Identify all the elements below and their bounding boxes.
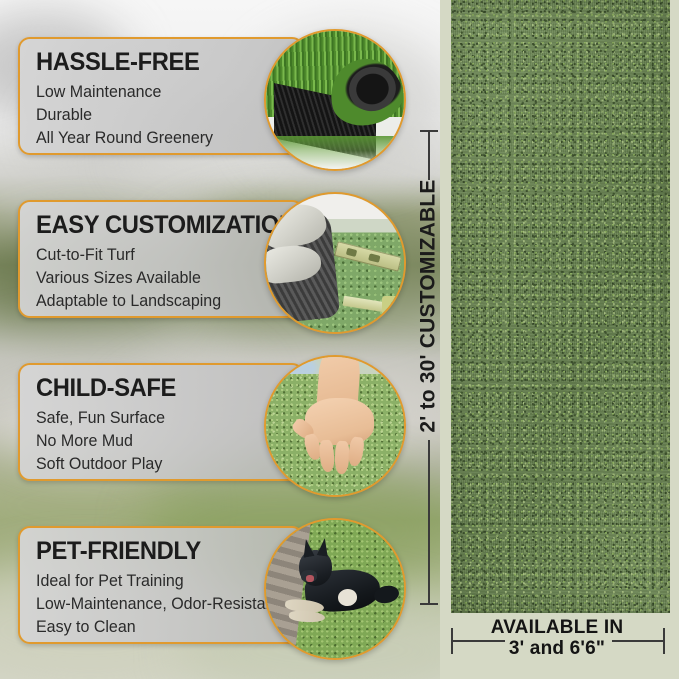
available-sizes-text: 3' and 6'6" <box>449 638 665 659</box>
feature-card-bullet: Various Sizes Available <box>36 267 280 290</box>
available-in-text: AVAILABLE IN <box>449 618 665 638</box>
feature-card-title: EASY CUSTOMIZATION <box>36 212 275 239</box>
feature-card-bullet: Soft Outdoor Play <box>36 453 280 476</box>
feature-card-bullet: All Year Round Greenery <box>36 127 280 150</box>
feature-card-title: CHILD-SAFE <box>36 375 275 402</box>
feature-card-pet-friendly: PET-FRIENDLY Ideal for Pet Training Low-… <box>18 526 304 644</box>
feature-card-bullet: Low-Maintenance, Odor-Resistant <box>36 593 280 616</box>
feature-card-bullet: Ideal for Pet Training <box>36 570 280 593</box>
feature-card-bullet: Easy to Clean <box>36 616 280 639</box>
feature-card-bullet: No More Mud <box>36 430 280 453</box>
dog-tongue <box>306 575 314 582</box>
feature-photo-rolled-turf <box>264 29 406 171</box>
photo-content <box>266 520 404 658</box>
vertical-dimension-tick-top <box>420 130 438 132</box>
photo-content <box>266 194 404 332</box>
tape-measure-body <box>382 296 404 318</box>
photo-content <box>266 357 404 495</box>
vertical-dimension-label: 2' to 30' CUSTOMIZABLE <box>408 136 450 476</box>
turf-sample-strip <box>451 0 670 613</box>
feature-card-bullet: Low Maintenance <box>36 81 280 104</box>
feature-card-child-safe: CHILD-SAFE Safe, Fun Surface No More Mud… <box>18 363 304 481</box>
feature-photo-turf-installation <box>264 192 406 334</box>
feature-card-bullet: Safe, Fun Surface <box>36 407 280 430</box>
infographic-canvas: HASSLE-FREE Low Maintenance Durable All … <box>0 0 679 679</box>
feature-card-title: PET-FRIENDLY <box>36 538 275 565</box>
feature-card-title: HASSLE-FREE <box>36 49 275 76</box>
vertical-dimension-text: 2' to 30' CUSTOMIZABLE <box>417 179 441 432</box>
feature-photo-child-hand <box>264 355 406 497</box>
feature-card-hassle-free: HASSLE-FREE Low Maintenance Durable All … <box>18 37 304 155</box>
feature-card-bullet: Adaptable to Landscaping <box>36 290 280 313</box>
horizontal-dimension-label: AVAILABLE IN 3' and 6'6" <box>449 618 665 659</box>
feature-card-bullet: Durable <box>36 104 280 127</box>
feature-photo-dog-on-lawn <box>264 518 406 660</box>
photo-content <box>266 31 404 169</box>
turf-front-edge <box>266 136 404 169</box>
feature-card-easy-customization: EASY CUSTOMIZATION Cut-to-Fit Turf Vario… <box>18 200 304 318</box>
feature-card-bullet: Cut-to-Fit Turf <box>36 244 280 267</box>
vertical-dimension-tick-bottom <box>420 603 438 605</box>
